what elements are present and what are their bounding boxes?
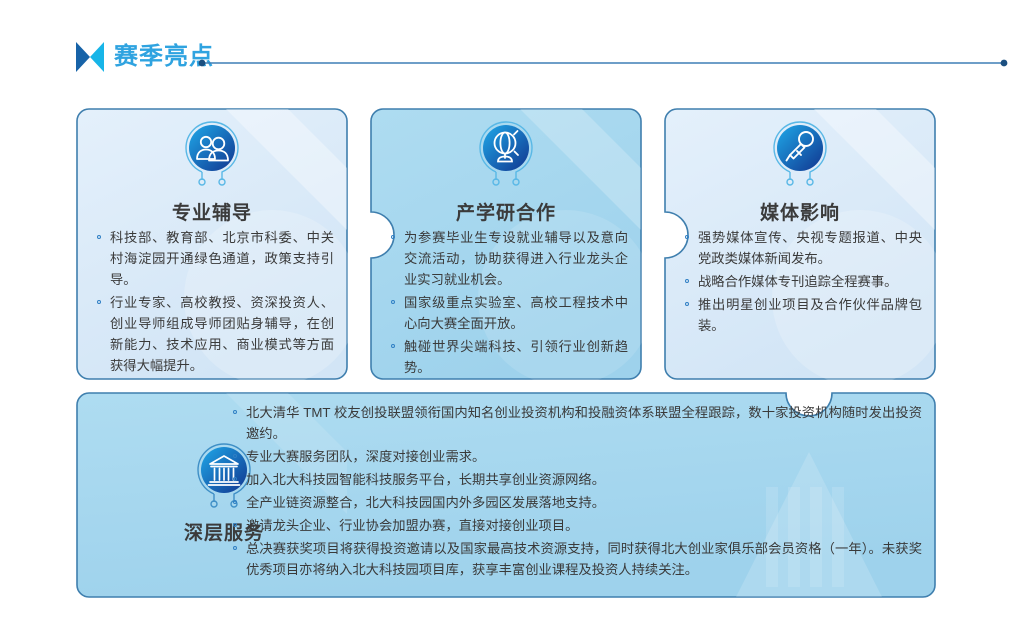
- two-people-icon: [182, 118, 242, 190]
- list-item: 行业专家、高校教授、资深投资人、创业导师组成导师团贴身辅导，在创新能力、技术应用…: [96, 292, 334, 376]
- list-item: 强势媒体宣传、央视专题报道、中央党政类媒体新闻发布。: [684, 227, 922, 269]
- list-item: 战略合作媒体专刊追踪全程赛事。: [684, 271, 922, 292]
- list-item: 为参赛毕业生专设就业辅导以及意向交流活动，协助获得进入行业龙头企业实习就业机会。: [390, 227, 628, 290]
- header-rule: [198, 59, 1008, 67]
- list-item: 北大清华 TMT 校友创投联盟领衔国内知名创业投资机构和投融资体系联盟全程跟踪，…: [232, 402, 922, 444]
- list-item: 全产业链资源整合，北大科技园国内外多园区发展落地支持。: [232, 492, 922, 513]
- list-item: 邀请龙头企业、行业协会加盟办赛，直接对接创业项目。: [232, 515, 922, 536]
- microphone-icon: [770, 118, 830, 190]
- list-item: 专业大赛服务团队，深度对接创业需求。: [232, 446, 922, 467]
- list-item: 科技部、教育部、北京市科委、中关村海淀园开通绿色通道，政策支持引导。: [96, 227, 334, 290]
- card-bullet-list: 为参赛毕业生专设就业辅导以及意向交流活动，协助获得进入行业龙头企业实习就业机会。…: [390, 227, 628, 380]
- list-item: 国家级重点实验室、高校工程技术中心向大赛全面开放。: [390, 292, 628, 334]
- bowtie-marker-icon: [76, 42, 104, 72]
- card-title: 专业辅导: [76, 198, 348, 225]
- card-title: 产学研合作: [370, 198, 642, 225]
- list-item: 总决赛获奖项目将获得投资邀请以及国家最高技术资源支持，同时获得北大创业家俱乐部会…: [232, 538, 922, 580]
- section-header: 赛季亮点: [76, 42, 214, 72]
- list-item: 触碰世界尖端科技、引领行业创新趋势。: [390, 336, 628, 378]
- card-title: 媒体影响: [664, 198, 936, 225]
- slide-root: 赛季亮点: [0, 0, 1024, 639]
- list-item: 加入北大科技园智能科技服务平台，长期共享创业资源网络。: [232, 469, 922, 490]
- card-media-influence[interactable]: 媒体影响 强势媒体宣传、央视专题报道、中央党政类媒体新闻发布。 战略合作媒体专刊…: [664, 108, 936, 380]
- card-bullet-list: 北大清华 TMT 校友创投联盟领衔国内知名创业投资机构和投融资体系联盟全程跟踪，…: [232, 402, 922, 582]
- card-bullet-list: 科技部、教育部、北京市科委、中关村海淀园开通绿色通道，政策支持引导。 行业专家、…: [96, 227, 334, 378]
- card-deep-service[interactable]: 深层服务 北大清华 TMT 校友创投联盟领衔国内知名创业投资机构和投融资体系联盟…: [76, 392, 936, 598]
- globe-stand-icon: [476, 118, 536, 190]
- card-industry-academia-research[interactable]: 产学研合作 为参赛毕业生专设就业辅导以及意向交流活动，协助获得进入行业龙头企业实…: [370, 108, 642, 380]
- list-item: 推出明星创业项目及合作伙伴品牌包装。: [684, 294, 922, 336]
- card-bullet-list: 强势媒体宣传、央视专题报道、中央党政类媒体新闻发布。 战略合作媒体专刊追踪全程赛…: [684, 227, 922, 338]
- card-professional-guidance[interactable]: 专业辅导 科技部、教育部、北京市科委、中关村海淀园开通绿色通道，政策支持引导。 …: [76, 108, 348, 380]
